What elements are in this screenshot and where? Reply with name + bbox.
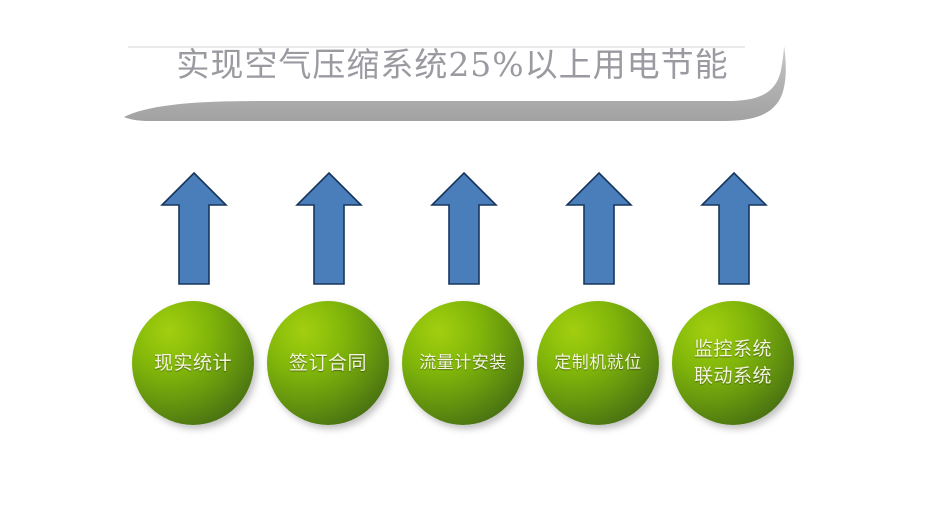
process-step-label-line-1: 监控系统 [694, 336, 772, 363]
process-step-label: 现实统计 [154, 351, 232, 376]
process-step-3[interactable]: 流量计安装 [402, 301, 524, 425]
process-step-label-line-2: 联动系统 [694, 363, 772, 390]
process-step-5[interactable]: 监控系统 联动系统 [672, 301, 794, 425]
process-step-2[interactable]: 签订合同 [267, 301, 389, 425]
process-step-4[interactable]: 定制机就位 [537, 301, 659, 425]
process-step-label: 定制机就位 [554, 351, 642, 376]
process-step-1[interactable]: 现实统计 [132, 301, 254, 425]
process-step-group: 现实统计 签订合同 流量计安装 定制机就位 监控系统 联动系统 [0, 0, 945, 529]
process-step-label: 监控系统 联动系统 [694, 336, 772, 390]
process-step-label: 流量计安装 [419, 351, 507, 376]
process-step-label: 签订合同 [289, 351, 367, 376]
